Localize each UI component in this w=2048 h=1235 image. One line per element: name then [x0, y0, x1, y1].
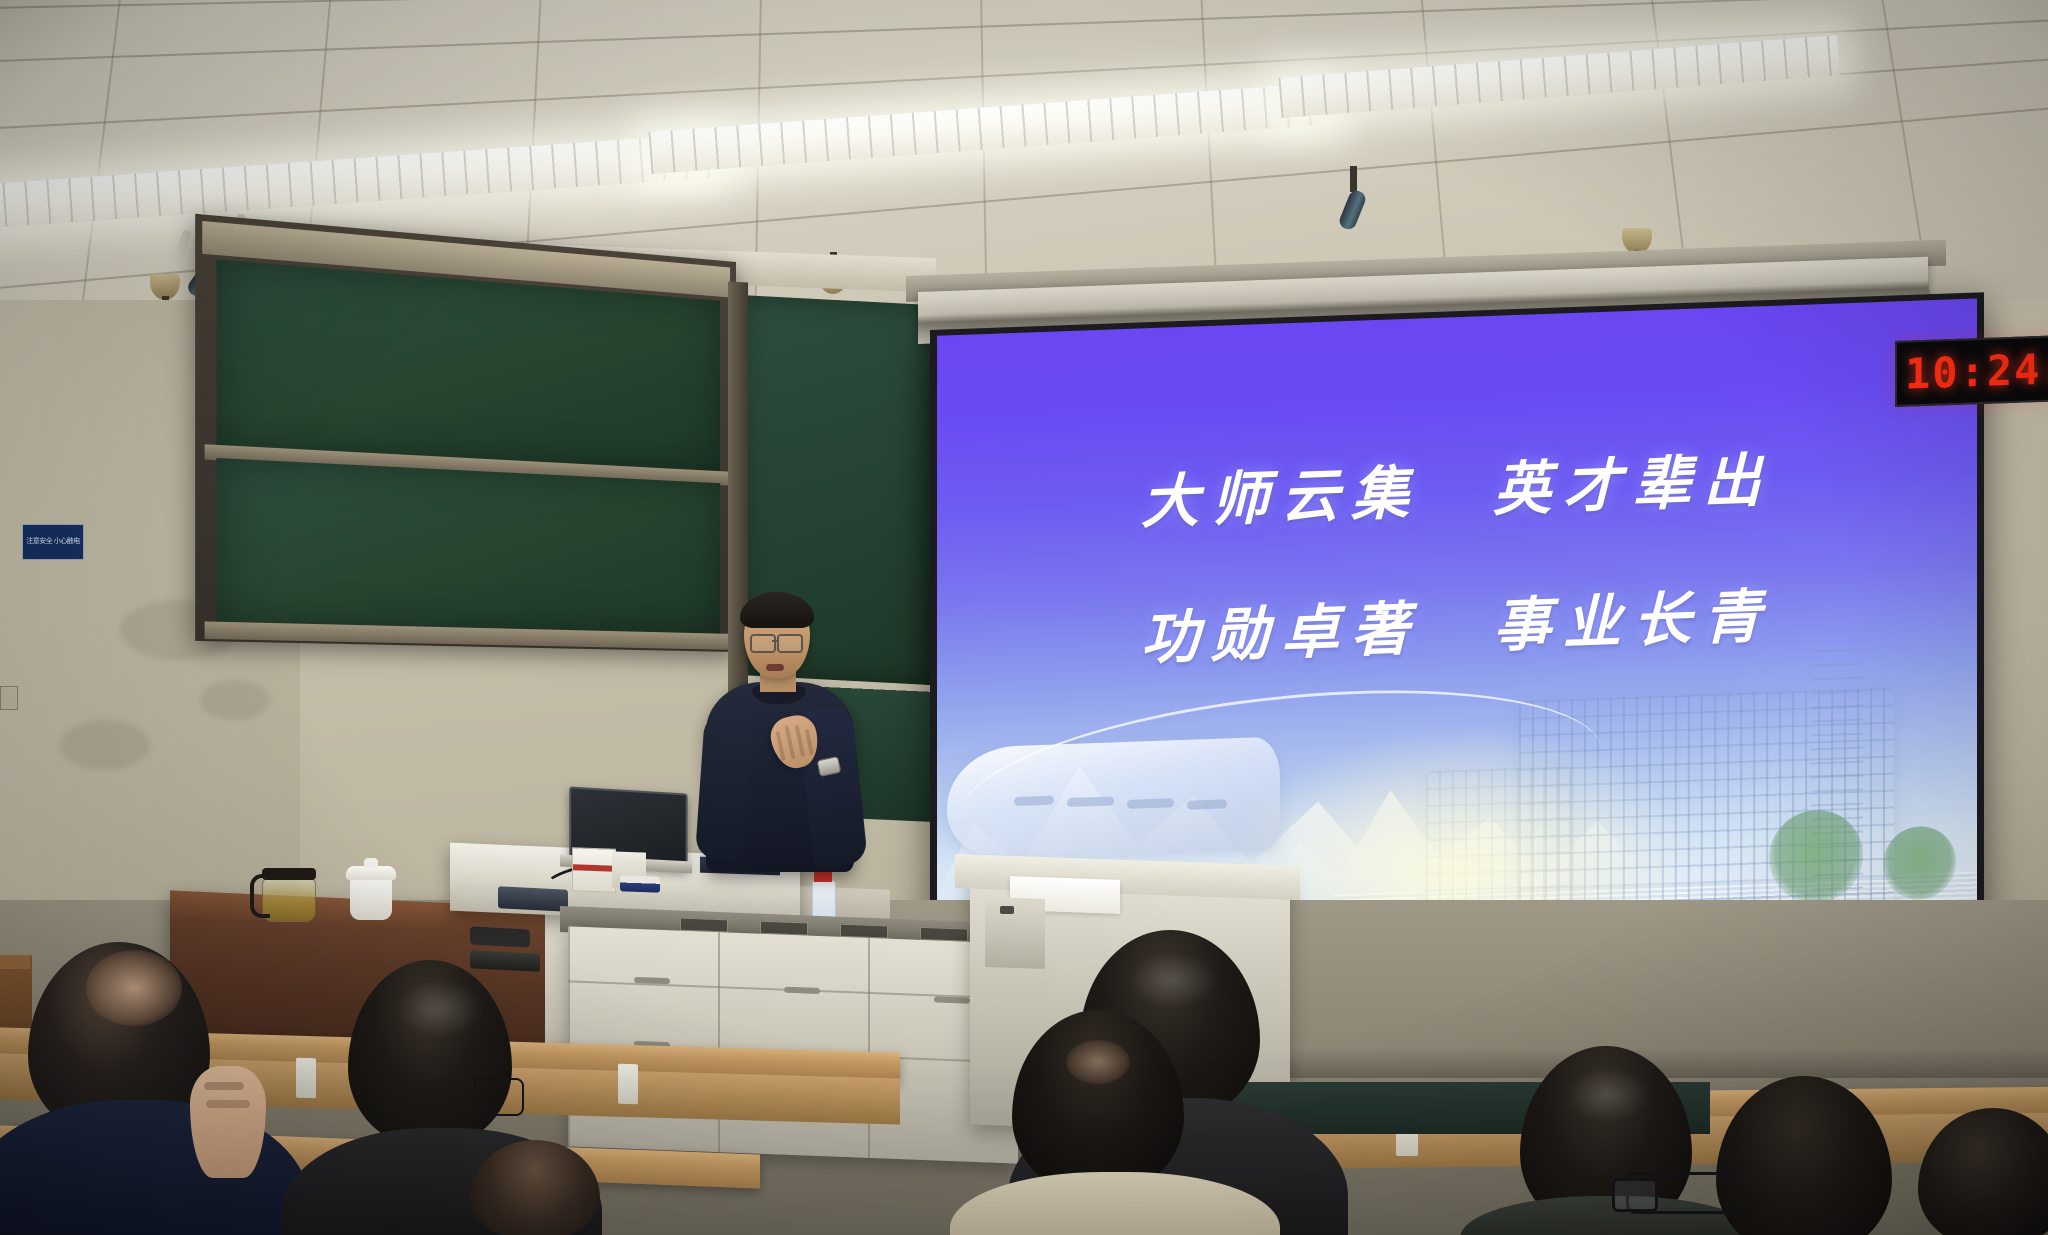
console-handle[interactable]: [784, 987, 820, 994]
slide-title-text: 大师云集 英才辈出 功勋卓著 事业长青: [937, 425, 1977, 734]
slide-phrase-1b: 英才辈出: [1493, 432, 1773, 526]
laptop-dock-tray: [498, 886, 568, 912]
ceramic-cup: [350, 878, 392, 920]
chalkboard-panel-upper: [216, 259, 720, 473]
slide-phrase-1a: 大师云集: [1141, 445, 1421, 539]
wooden-chair-back: [0, 955, 30, 969]
clock-time-display: 10:24:: [1905, 343, 2048, 398]
lectern-lower-tray: [470, 950, 540, 972]
bench-divider-clip: [618, 1064, 638, 1105]
safety-warning-sign: 注意安全 小心触电: [22, 524, 84, 560]
slide-line-1: 大师云集 英才辈出: [937, 425, 1977, 546]
chalkboard-panel-lower: [216, 458, 720, 636]
glasses-lens: [1612, 1178, 1658, 1212]
glass-teapot: [262, 878, 316, 922]
glasses-bridge: [772, 640, 778, 642]
bench-divider-clip: [296, 1058, 316, 1099]
visualizer-body: [985, 897, 1045, 969]
digital-wall-clock: 10:24:: [1895, 335, 2048, 407]
cup-knob: [364, 858, 378, 868]
cup-lid: [346, 866, 396, 880]
blue-case: [620, 875, 660, 892]
classroom-scene: 注意安全 小心触电: [0, 0, 2048, 1235]
green-chalkboard: [195, 214, 736, 652]
ceiling-light-strip: [1278, 35, 1839, 118]
ceiling-light-strip: [648, 82, 1329, 174]
glasses-icon: [777, 634, 803, 653]
slide-phrase-2a: 功勋卓著: [1141, 581, 1421, 675]
safety-sign-text: 注意安全 小心触电: [26, 538, 79, 546]
power-outlet: [0, 686, 18, 710]
glasses-icon: [750, 634, 776, 653]
visualizer-button[interactable]: [1000, 906, 1014, 914]
slide-line-2: 功勋卓著 事业长青: [937, 561, 1977, 682]
teapot-lid: [262, 868, 316, 880]
console-handle[interactable]: [934, 996, 970, 1003]
presenter-mouth: [766, 664, 784, 671]
teapot-handle: [250, 874, 270, 918]
slide-phrase-2b: 事业长青: [1493, 568, 1773, 662]
tissue-box: [572, 847, 616, 893]
ceiling-light-strip: [0, 133, 720, 230]
remote-control[interactable]: [470, 926, 530, 947]
glasses-icon: [474, 1078, 524, 1116]
